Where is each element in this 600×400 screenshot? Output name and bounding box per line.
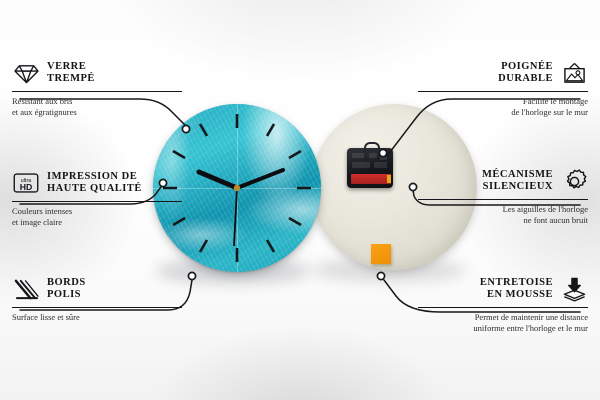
feature-title: VERRE TREMPÉ (47, 61, 95, 86)
feature-header: ENTRETOISE EN MOUSSE (418, 274, 588, 304)
clock-mechanism (347, 148, 393, 188)
feature-title: POIGNÉE DURABLE (498, 61, 553, 86)
feature-title: IMPRESSION DE HAUTE QUALITÉ (47, 171, 142, 196)
feature-verre-trempe: VERRE TREMPÉ Résistant aux bris et aux é… (12, 58, 182, 117)
feature-header: BORDS POLIS (12, 274, 182, 304)
polished-edges-icon (12, 275, 40, 303)
feature-subtitle: Surface lisse et sûre (12, 312, 182, 323)
feature-subtitle: Résistant aux bris et aux égratignures (12, 96, 182, 117)
feature-subtitle: Permet de maintenir une distance uniform… (418, 312, 588, 333)
feature-subtitle: Les aiguilles de l'horloge ne font aucun… (418, 204, 588, 225)
feature-subtitle: Couleurs intenses et image claire (12, 206, 182, 227)
infographic-canvas: VERRE TREMPÉ Résistant aux bris et aux é… (0, 0, 600, 400)
battery-terminal (387, 175, 391, 183)
feature-header: MÉCANISME SILENCIEUX (418, 166, 588, 196)
svg-text:HD: HD (20, 182, 33, 192)
feature-title: BORDS POLIS (47, 277, 86, 302)
foam-spacer-pad (371, 244, 391, 264)
battery (351, 174, 391, 184)
diamond-icon (12, 59, 40, 87)
feature-header: POIGNÉE DURABLE (418, 58, 588, 88)
picture-hanger-icon (560, 59, 588, 87)
hands-center-pin (234, 185, 240, 191)
ultra-hd-icon: ultra HD (12, 169, 40, 197)
feature-poignee-durable: POIGNÉE DURABLE Facilite le montage de l… (418, 58, 588, 117)
feature-bords-polis: BORDS POLIS Surface lisse et sûre (12, 274, 182, 323)
divider (418, 199, 588, 200)
hour-hand (199, 172, 237, 188)
gear-icon (560, 167, 588, 195)
divider (418, 307, 588, 308)
second-hand (234, 188, 237, 246)
foam-spacer-icon (560, 275, 588, 303)
feature-mecanisme-silencieux: MÉCANISME SILENCIEUX Les aiguilles de l'… (418, 166, 588, 225)
feature-title: ENTRETOISE EN MOUSSE (480, 277, 553, 302)
feature-subtitle: Facilite le montage de l'horloge sur le … (418, 96, 588, 117)
divider (12, 201, 182, 202)
minute-hand (237, 170, 283, 188)
divider (12, 307, 182, 308)
feature-entretoise-en-mousse: ENTRETOISE EN MOUSSE Permet de maintenir… (418, 274, 588, 333)
divider (12, 91, 182, 92)
feature-header: ultra HD IMPRESSION DE HAUTE QUALITÉ (12, 168, 182, 198)
feature-title: MÉCANISME SILENCIEUX (482, 169, 553, 194)
feature-header: VERRE TREMPÉ (12, 58, 182, 88)
divider (418, 91, 588, 92)
feature-impression-haute-qualite: ultra HD IMPRESSION DE HAUTE QUALITÉ Cou… (12, 168, 182, 227)
